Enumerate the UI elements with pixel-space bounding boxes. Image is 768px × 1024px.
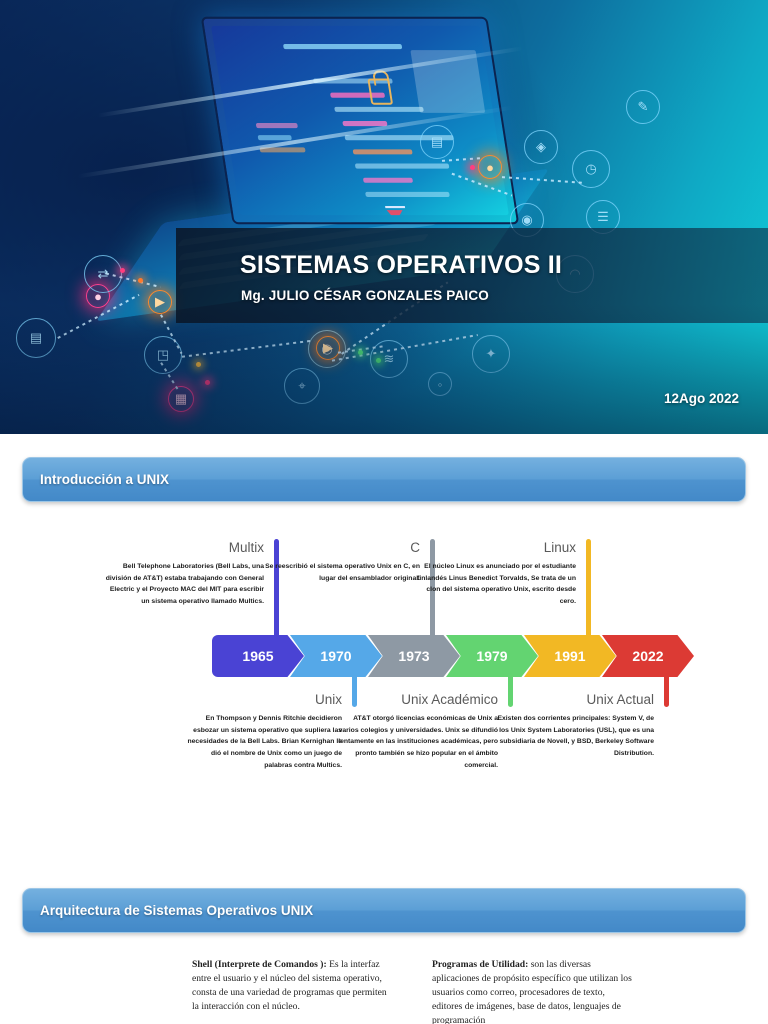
timeline-callout-1991: LinuxEl núcleo Linux es anunciado por el… [416,540,576,608]
timeline-year-label: 1991 [554,648,585,664]
section-banner-arquitectura[interactable]: Arquitectura de Sistemas Operativos UNIX [22,888,746,933]
lock-icon [367,78,393,104]
timeline-year-label: 1973 [398,648,429,664]
section-banner-label: Introducción a UNIX [23,472,169,487]
timeline-milestone-1965[interactable]: 1965 [212,635,304,677]
network-node-icon: ✎ [626,90,660,124]
timeline-callout-text: Se reescribió el sistema operativo Unix … [260,561,420,584]
hourglass-icon [385,206,409,215]
architecture-column-heading: Shell (Interprete de Comandos ): [192,959,327,970]
network-node-icon: ▤ [420,125,454,159]
architecture-columns: Shell (Interprete de Comandos ): Es la i… [0,958,768,1024]
timeline-callout-2022: Unix ActualExisten dos corrientes princi… [494,692,654,760]
timeline-callout-title: Unix [182,692,342,707]
unix-timeline: 196519701973197919912022 MultixBell Tele… [0,540,768,810]
timeline-year-label: 1965 [242,648,273,664]
page-title: SISTEMAS OPERATIVOS II [240,251,562,280]
timeline-callout-1970: UnixEn Thompson y Dennis Ritchie decidie… [182,692,342,771]
presentation-date: 12Ago 2022 [664,391,739,406]
laptop-screen [201,17,519,225]
timeline-callout-1979: Unix AcadémicoAT&T otorgó licencias econ… [338,692,498,771]
timeline-callout-text: Existen dos corrientes principales: Syst… [494,713,654,760]
architecture-column-heading: Programas de Utilidad: [432,959,528,970]
timeline-callout-title: C [260,540,420,555]
timeline-callout-1973: CSe reescribió el sistema operativo Unix… [260,540,420,584]
timeline-callout-title: Unix Actual [494,692,654,707]
timeline-callout-text: Bell Telephone Laboratories (Bell Labs, … [104,561,264,608]
section-banner-introduccion[interactable]: Introducción a UNIX [22,457,746,502]
timeline-callout-title: Linux [416,540,576,555]
slide-page: ▤ ● ⇄ ▶ ◳ ▦ ◎ ⌖ ≋ ▶ ▤ ● ◷ ◉ ◠ ✎ ◈ ☰ ✦ ◦ [0,0,768,1024]
timeline-bar: 196519701973197919912022 [0,635,768,677]
timeline-callout-title: Multix [104,540,264,555]
hero-bottom-shade [0,304,768,434]
timeline-year-label: 1970 [320,648,351,664]
network-node-icon: ◈ [524,130,558,164]
author-subtitle: Mg. JULIO CÉSAR GONZALES PAICO [241,288,489,303]
timeline-callout-text: AT&T otorgó licencias económicas de Unix… [338,713,498,771]
timeline-callout-title: Unix Académico [338,692,498,707]
timeline-callout-1965: MultixBell Telephone Laboratories (Bell … [104,540,264,608]
section-banner-label: Arquitectura de Sistemas Operativos UNIX [23,903,313,918]
hero-banner: ▤ ● ⇄ ▶ ◳ ▦ ◎ ⌖ ≋ ▶ ▤ ● ◷ ◉ ◠ ✎ ◈ ☰ ✦ ◦ [0,0,768,434]
timeline-connector [586,539,591,635]
timeline-connector [664,677,669,707]
architecture-column: Programas de Utilidad: son las diversas … [432,958,632,1024]
timeline-callout-text: El núcleo Linux es anunciado por el estu… [416,561,576,608]
timeline-year-label: 2022 [632,648,663,664]
architecture-column: Shell (Interprete de Comandos ): Es la i… [192,958,392,1014]
timeline-year-label: 1979 [476,648,507,664]
timeline-callout-text: En Thompson y Dennis Ritchie decidieron … [182,713,342,771]
